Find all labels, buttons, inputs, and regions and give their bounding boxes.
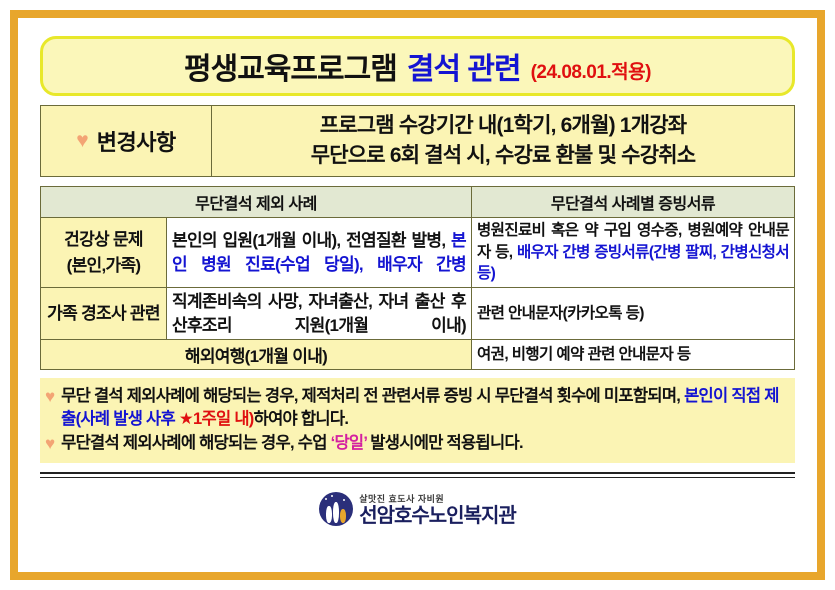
- row1-category-line1: 건강상 문제: [46, 227, 161, 253]
- title-main-blue: 결석 관련: [407, 44, 521, 88]
- table-row: 건강상 문제 (본인,가족) 본인의 입원(1개월 이내), 전염질환 발병, …: [41, 218, 795, 288]
- footer-separator: [40, 472, 795, 475]
- note-1-seg4: 하여야 합니다.: [254, 410, 349, 428]
- row2-category: 가족 경조사 관련: [41, 288, 167, 340]
- logo-slogan: 살맛진 효도사 자비원: [359, 495, 516, 504]
- change-notice-line-1: 프로그램 수강기간 내(1학기, 6개월) 1개강좌: [320, 111, 687, 141]
- change-notice-strip: ♥ 변경사항 프로그램 수강기간 내(1학기, 6개월) 1개강좌 무단으로 6…: [40, 105, 795, 177]
- logo-text-block: 살맛진 효도사 자비원 선암호수노인복지관: [359, 495, 516, 526]
- table-header-proof: 무단결석 사례별 증빙서류: [472, 187, 795, 218]
- row1-desc-black: 본인의 입원(1개월 이내), 전염질환 발병,: [172, 231, 451, 250]
- page-title: 평생교육프로그램 결석 관련 (24.08.01.적용): [40, 36, 795, 96]
- footer-separator-2: [40, 477, 795, 480]
- table-row: 해외여행(1개월 이내) 여권, 비행기 예약 관련 안내문자 등: [41, 339, 795, 369]
- footer-notes: ♥ 무단 결석 제외사례에 해당되는 경우, 제적처리 전 관련서류 증빙 시 …: [40, 378, 795, 463]
- note-2-seg2: ‘당일’: [331, 434, 367, 452]
- row1-proof-blue: 배우자 간병 증빙서류(간병 팔찌, 간병신청서 등): [477, 244, 789, 283]
- change-notice-body: 프로그램 수강기간 내(1학기, 6개월) 1개강좌 무단으로 6회 결석 시,…: [212, 106, 794, 176]
- row1-description: 본인의 입원(1개월 이내), 전염질환 발병, 본인 병원 진료(수업 당일)…: [167, 218, 472, 288]
- poster-inner: 평생교육프로그램 결석 관련 (24.08.01.적용) ♥ 변경사항 프로그램…: [18, 18, 817, 572]
- logo-mark-icon: [319, 492, 353, 526]
- title-effective-date: (24.08.01.적용): [531, 57, 651, 84]
- note-2-seg3: 발생시에만 적용됩니다.: [367, 434, 523, 452]
- logo-name: 선암호수노인복지관: [359, 506, 516, 526]
- note-2-seg1: 무단결석 제외사례에 해당되는 경우, 수업: [61, 434, 330, 452]
- exclusion-table: 무단결석 제외 사례 무단결석 사례별 증빙서류 건강상 문제 (본인,가족) …: [40, 186, 795, 370]
- row3-full-label: 해외여행(1개월 이내): [41, 339, 472, 369]
- row2-description: 직계존비속의 사망, 자녀출산, 자녀 출산 후 산후조리 지원(1개월 이내): [167, 288, 472, 340]
- note-1-seg1: 무단 결석 제외사례에 해당되는 경우, 제적처리 전 관련서류 증빙 시 무단…: [61, 387, 684, 405]
- note-item: ♥ 무단결석 제외사례에 해당되는 경우, 수업 ‘당일’ 발생시에만 적용됩니…: [45, 432, 790, 455]
- title-main-black: 평생교육프로그램: [184, 44, 397, 88]
- row1-proof: 병원진료비 혹은 약 구입 영수증, 병원예약 안내문자 등, 배우자 간병 증…: [472, 218, 795, 288]
- change-notice-line-2: 무단으로 6회 결석 시, 수강료 환불 및 수강취소: [311, 141, 696, 171]
- heart-icon: ♥: [76, 130, 88, 151]
- row1-category: 건강상 문제 (본인,가족): [41, 218, 167, 288]
- organization-logo: 살맛진 효도사 자비원 선암호수노인복지관: [40, 492, 795, 526]
- note-1-seg3: ★1주일 내): [179, 410, 254, 428]
- table-header-exclusion: 무단결석 제외 사례: [41, 187, 472, 218]
- row1-category-line2: (본인,가족): [46, 253, 161, 279]
- change-notice-label-text: 변경사항: [97, 125, 176, 157]
- row2-proof: 관련 안내문자(카카오톡 등): [472, 288, 795, 340]
- change-notice-label: ♥ 변경사항: [41, 106, 212, 176]
- table-row: 가족 경조사 관련 직계존비속의 사망, 자녀출산, 자녀 출산 후 산후조리 …: [41, 288, 795, 340]
- heart-icon: ♥: [45, 386, 55, 409]
- note-2-text: 무단결석 제외사례에 해당되는 경우, 수업 ‘당일’ 발생시에만 적용됩니다.: [61, 432, 523, 455]
- table-header-row: 무단결석 제외 사례 무단결석 사례별 증빙서류: [41, 187, 795, 218]
- note-1-text: 무단 결석 제외사례에 해당되는 경우, 제적처리 전 관련서류 증빙 시 무단…: [61, 385, 790, 432]
- poster-frame: 평생교육프로그램 결석 관련 (24.08.01.적용) ♥ 변경사항 프로그램…: [10, 10, 825, 580]
- note-item: ♥ 무단 결석 제외사례에 해당되는 경우, 제적처리 전 관련서류 증빙 시 …: [45, 385, 790, 432]
- row3-proof: 여권, 비행기 예약 관련 안내문자 등: [472, 339, 795, 369]
- heart-icon: ♥: [45, 433, 55, 456]
